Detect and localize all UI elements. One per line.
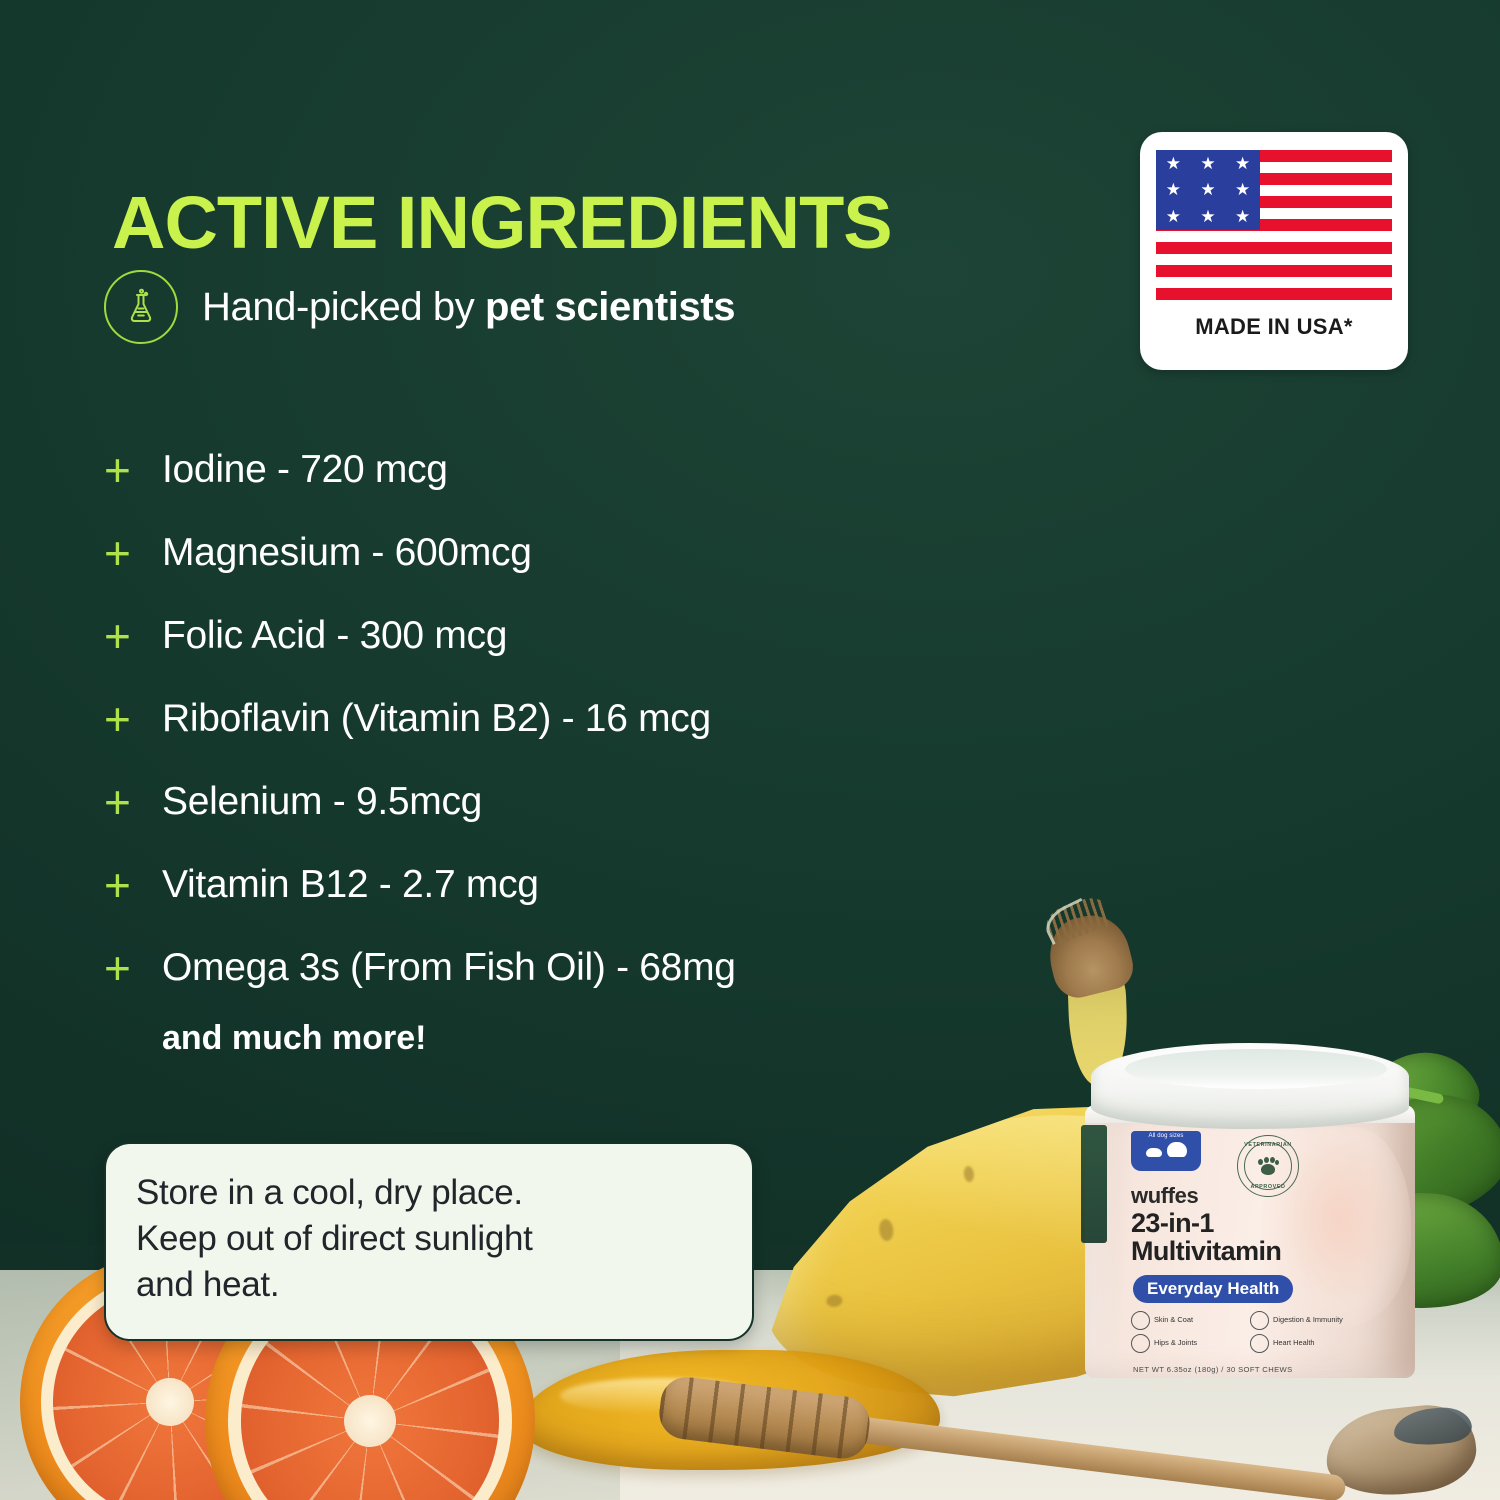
flag-stripe bbox=[1156, 288, 1392, 300]
flag-stripe bbox=[1156, 242, 1392, 254]
made-in-usa-label: MADE IN USA* bbox=[1156, 314, 1392, 340]
ingredient-row: + Omega 3s (From Fish Oil) - 68mg bbox=[104, 926, 1004, 1009]
page-title: ACTIVE INGREDIENTS bbox=[112, 186, 892, 260]
flag-star: ★ bbox=[1235, 155, 1250, 172]
content-layer: ACTIVE INGREDIENTS Hand-picked by pet sc… bbox=[0, 0, 1500, 1500]
plus-icon: + bbox=[104, 862, 162, 908]
subtitle: Hand-picked by pet scientists bbox=[202, 285, 735, 330]
ingredient-label: Magnesium - 600mcg bbox=[162, 531, 532, 575]
plus-icon: + bbox=[104, 613, 162, 659]
ingredient-label: Omega 3s (From Fish Oil) - 68mg bbox=[162, 946, 736, 990]
flag-stripe bbox=[1156, 265, 1392, 277]
storage-line-3: and heat. bbox=[136, 1262, 722, 1308]
plus-icon: + bbox=[104, 779, 162, 825]
plus-icon: + bbox=[104, 945, 162, 991]
usa-flag-icon: ★ ★ ★ ★ ★ ★ ★ ★ ★ bbox=[1156, 150, 1392, 300]
ingredient-label: Folic Acid - 300 mcg bbox=[162, 614, 507, 658]
ingredient-list: + Iodine - 720 mcg + Magnesium - 600mcg … bbox=[104, 428, 1004, 1058]
ingredient-label: Vitamin B12 - 2.7 mcg bbox=[162, 863, 539, 907]
flag-star: ★ bbox=[1235, 208, 1250, 225]
flag-star: ★ bbox=[1200, 208, 1215, 225]
ingredient-row: + Selenium - 9.5mcg bbox=[104, 760, 1004, 843]
flag-star: ★ bbox=[1166, 208, 1181, 225]
subtitle-row: Hand-picked by pet scientists bbox=[104, 270, 735, 344]
ingredient-label: Iodine - 720 mcg bbox=[162, 448, 448, 492]
plus-icon: + bbox=[104, 696, 162, 742]
ingredient-label: Selenium - 9.5mcg bbox=[162, 780, 482, 824]
ingredient-row: + Iodine - 720 mcg bbox=[104, 428, 1004, 511]
flag-canton: ★ ★ ★ ★ ★ ★ ★ ★ ★ bbox=[1156, 150, 1260, 230]
plus-icon: + bbox=[104, 447, 162, 493]
ingredient-row: + Vitamin B12 - 2.7 mcg bbox=[104, 843, 1004, 926]
flag-star: ★ bbox=[1235, 181, 1250, 198]
flag-star: ★ bbox=[1166, 181, 1181, 198]
flag-star: ★ bbox=[1200, 155, 1215, 172]
storage-line-1: Store in a cool, dry place. bbox=[136, 1170, 722, 1216]
flag-star: ★ bbox=[1166, 155, 1181, 172]
ingredient-row: + Riboflavin (Vitamin B2) - 16 mcg bbox=[104, 677, 1004, 760]
product-infographic: All dog sizes VETERINARIAN APPROVED bbox=[0, 0, 1500, 1500]
plus-icon: + bbox=[104, 530, 162, 576]
subtitle-prefix: Hand-picked by bbox=[202, 285, 485, 329]
flask-icon bbox=[104, 270, 178, 344]
ingredient-row: + Magnesium - 600mcg bbox=[104, 511, 1004, 594]
storage-instructions-card: Store in a cool, dry place. Keep out of … bbox=[104, 1142, 754, 1341]
made-in-usa-badge: ★ ★ ★ ★ ★ ★ ★ ★ ★ MADE IN USA* bbox=[1140, 132, 1408, 370]
ingredient-label: Riboflavin (Vitamin B2) - 16 mcg bbox=[162, 697, 711, 741]
ingredient-footer: and much more! bbox=[162, 1019, 1004, 1058]
ingredient-row: + Folic Acid - 300 mcg bbox=[104, 594, 1004, 677]
subtitle-bold: pet scientists bbox=[485, 285, 735, 329]
storage-line-2: Keep out of direct sunlight bbox=[136, 1216, 722, 1262]
flag-star: ★ bbox=[1200, 181, 1215, 198]
